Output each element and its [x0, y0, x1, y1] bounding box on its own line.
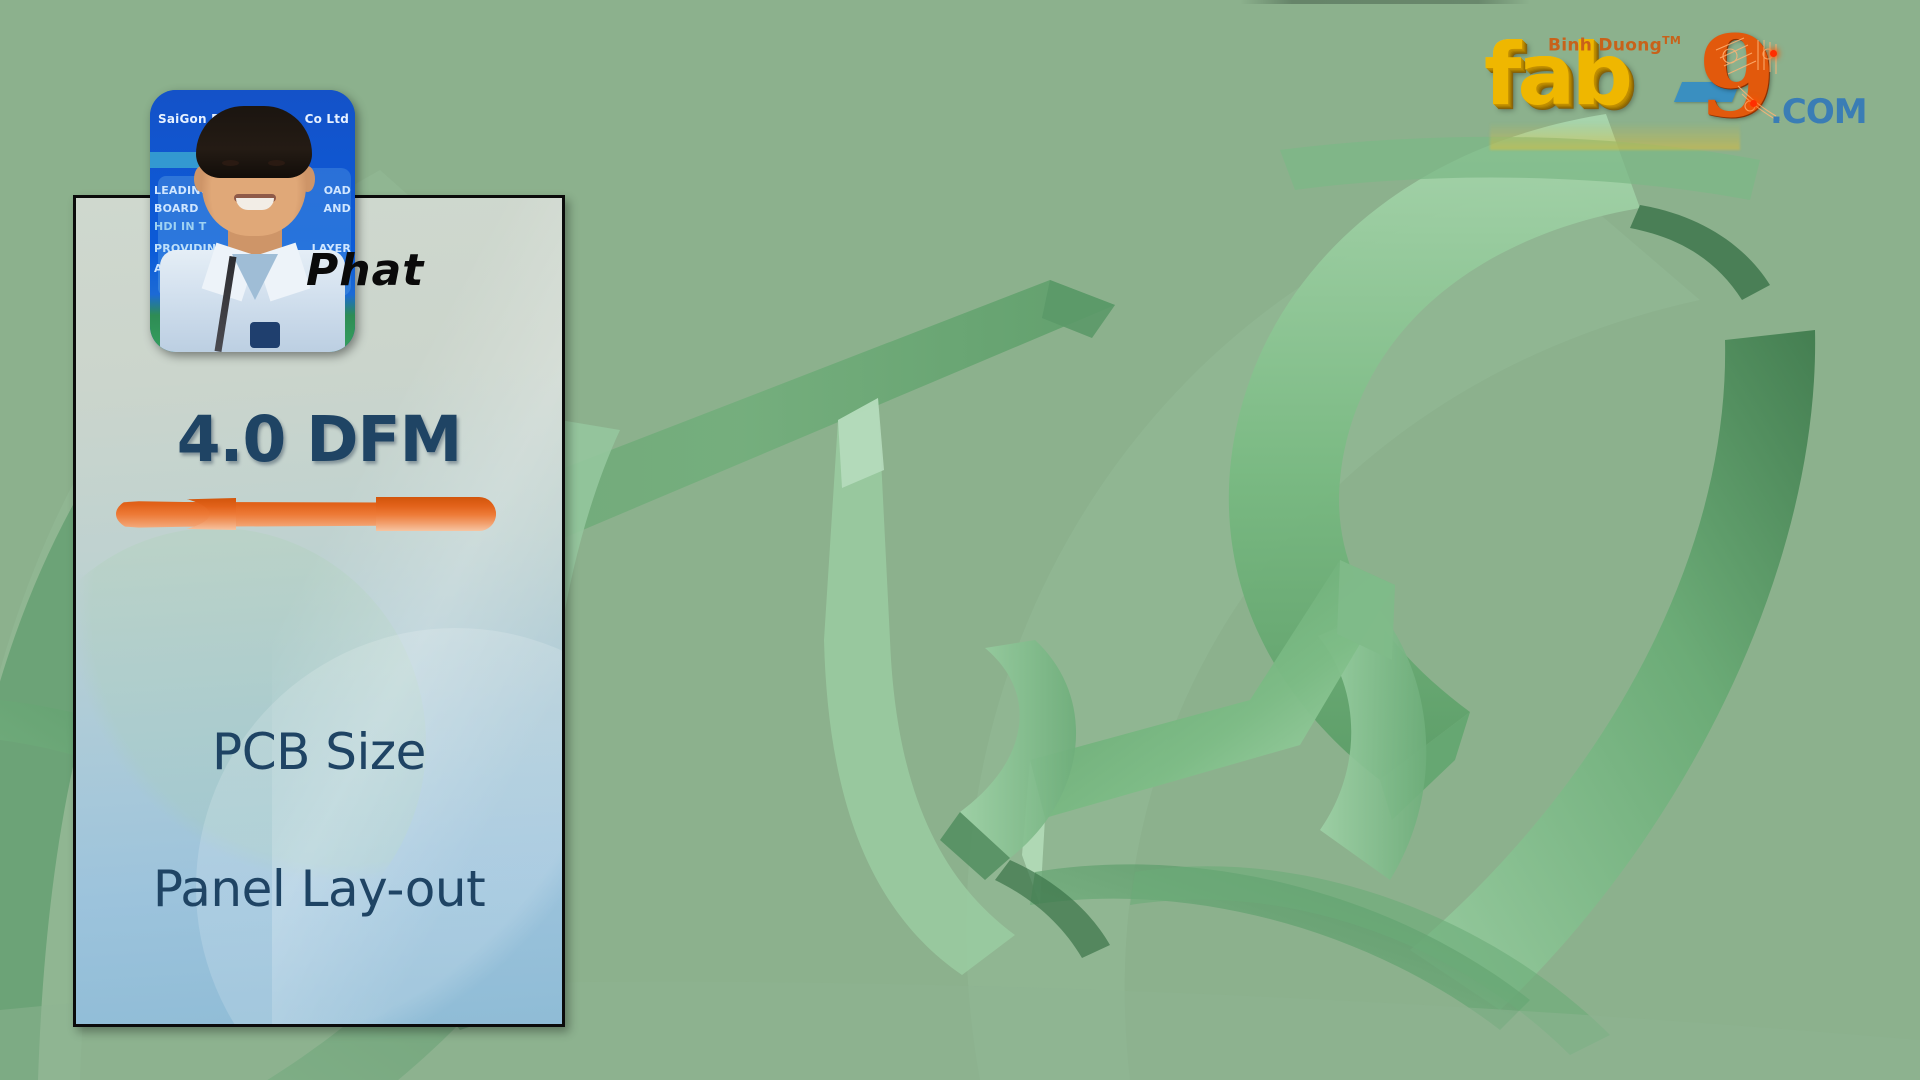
- logo-tagline-text: Binh Duong: [1548, 36, 1662, 56]
- banner-line-2: BOARD: [154, 202, 199, 215]
- person-name-label: Phat: [306, 245, 424, 296]
- banner-right-line-2: AND: [324, 202, 351, 215]
- card-decor-arc: [196, 628, 565, 1027]
- bullet-pcb-size: PCB Size: [76, 723, 562, 781]
- banner-company-right: Co Ltd: [305, 112, 349, 126]
- led-dot-icon: [1750, 100, 1757, 107]
- avatar: SaiGon Fab Co Ltd LEADING BOARD HDI IN T…: [150, 90, 355, 352]
- top-edge-clipped-artifact: [1240, 0, 1530, 4]
- divider-round-end: [376, 497, 496, 531]
- logo-tld: .COM: [1770, 92, 1867, 132]
- portrait-hair: [196, 106, 312, 178]
- page-title: 4.0 DFM: [76, 403, 562, 476]
- portrait-eye-left: [222, 160, 239, 166]
- trademark-icon: TM: [1662, 34, 1681, 47]
- led-dot-icon: [1770, 50, 1777, 57]
- banner-line-3: HDI IN T: [154, 220, 207, 233]
- bullet-panel-layout: Panel Lay-out: [76, 860, 562, 918]
- orange-divider: [116, 494, 496, 534]
- slide-canvas: Binh DuongTM fab 9 .COM: [0, 0, 1920, 1080]
- portrait-eye-right: [268, 160, 285, 166]
- banner-right-line-1: OAD: [324, 184, 351, 197]
- logo-tagline: Binh DuongTM: [1548, 34, 1681, 56]
- portrait-teeth: [236, 198, 274, 210]
- divider-tapered-tip: [116, 498, 236, 530]
- fab9-logo[interactable]: Binh DuongTM fab 9 .COM: [1470, 18, 1870, 138]
- portrait-badge: [250, 322, 280, 348]
